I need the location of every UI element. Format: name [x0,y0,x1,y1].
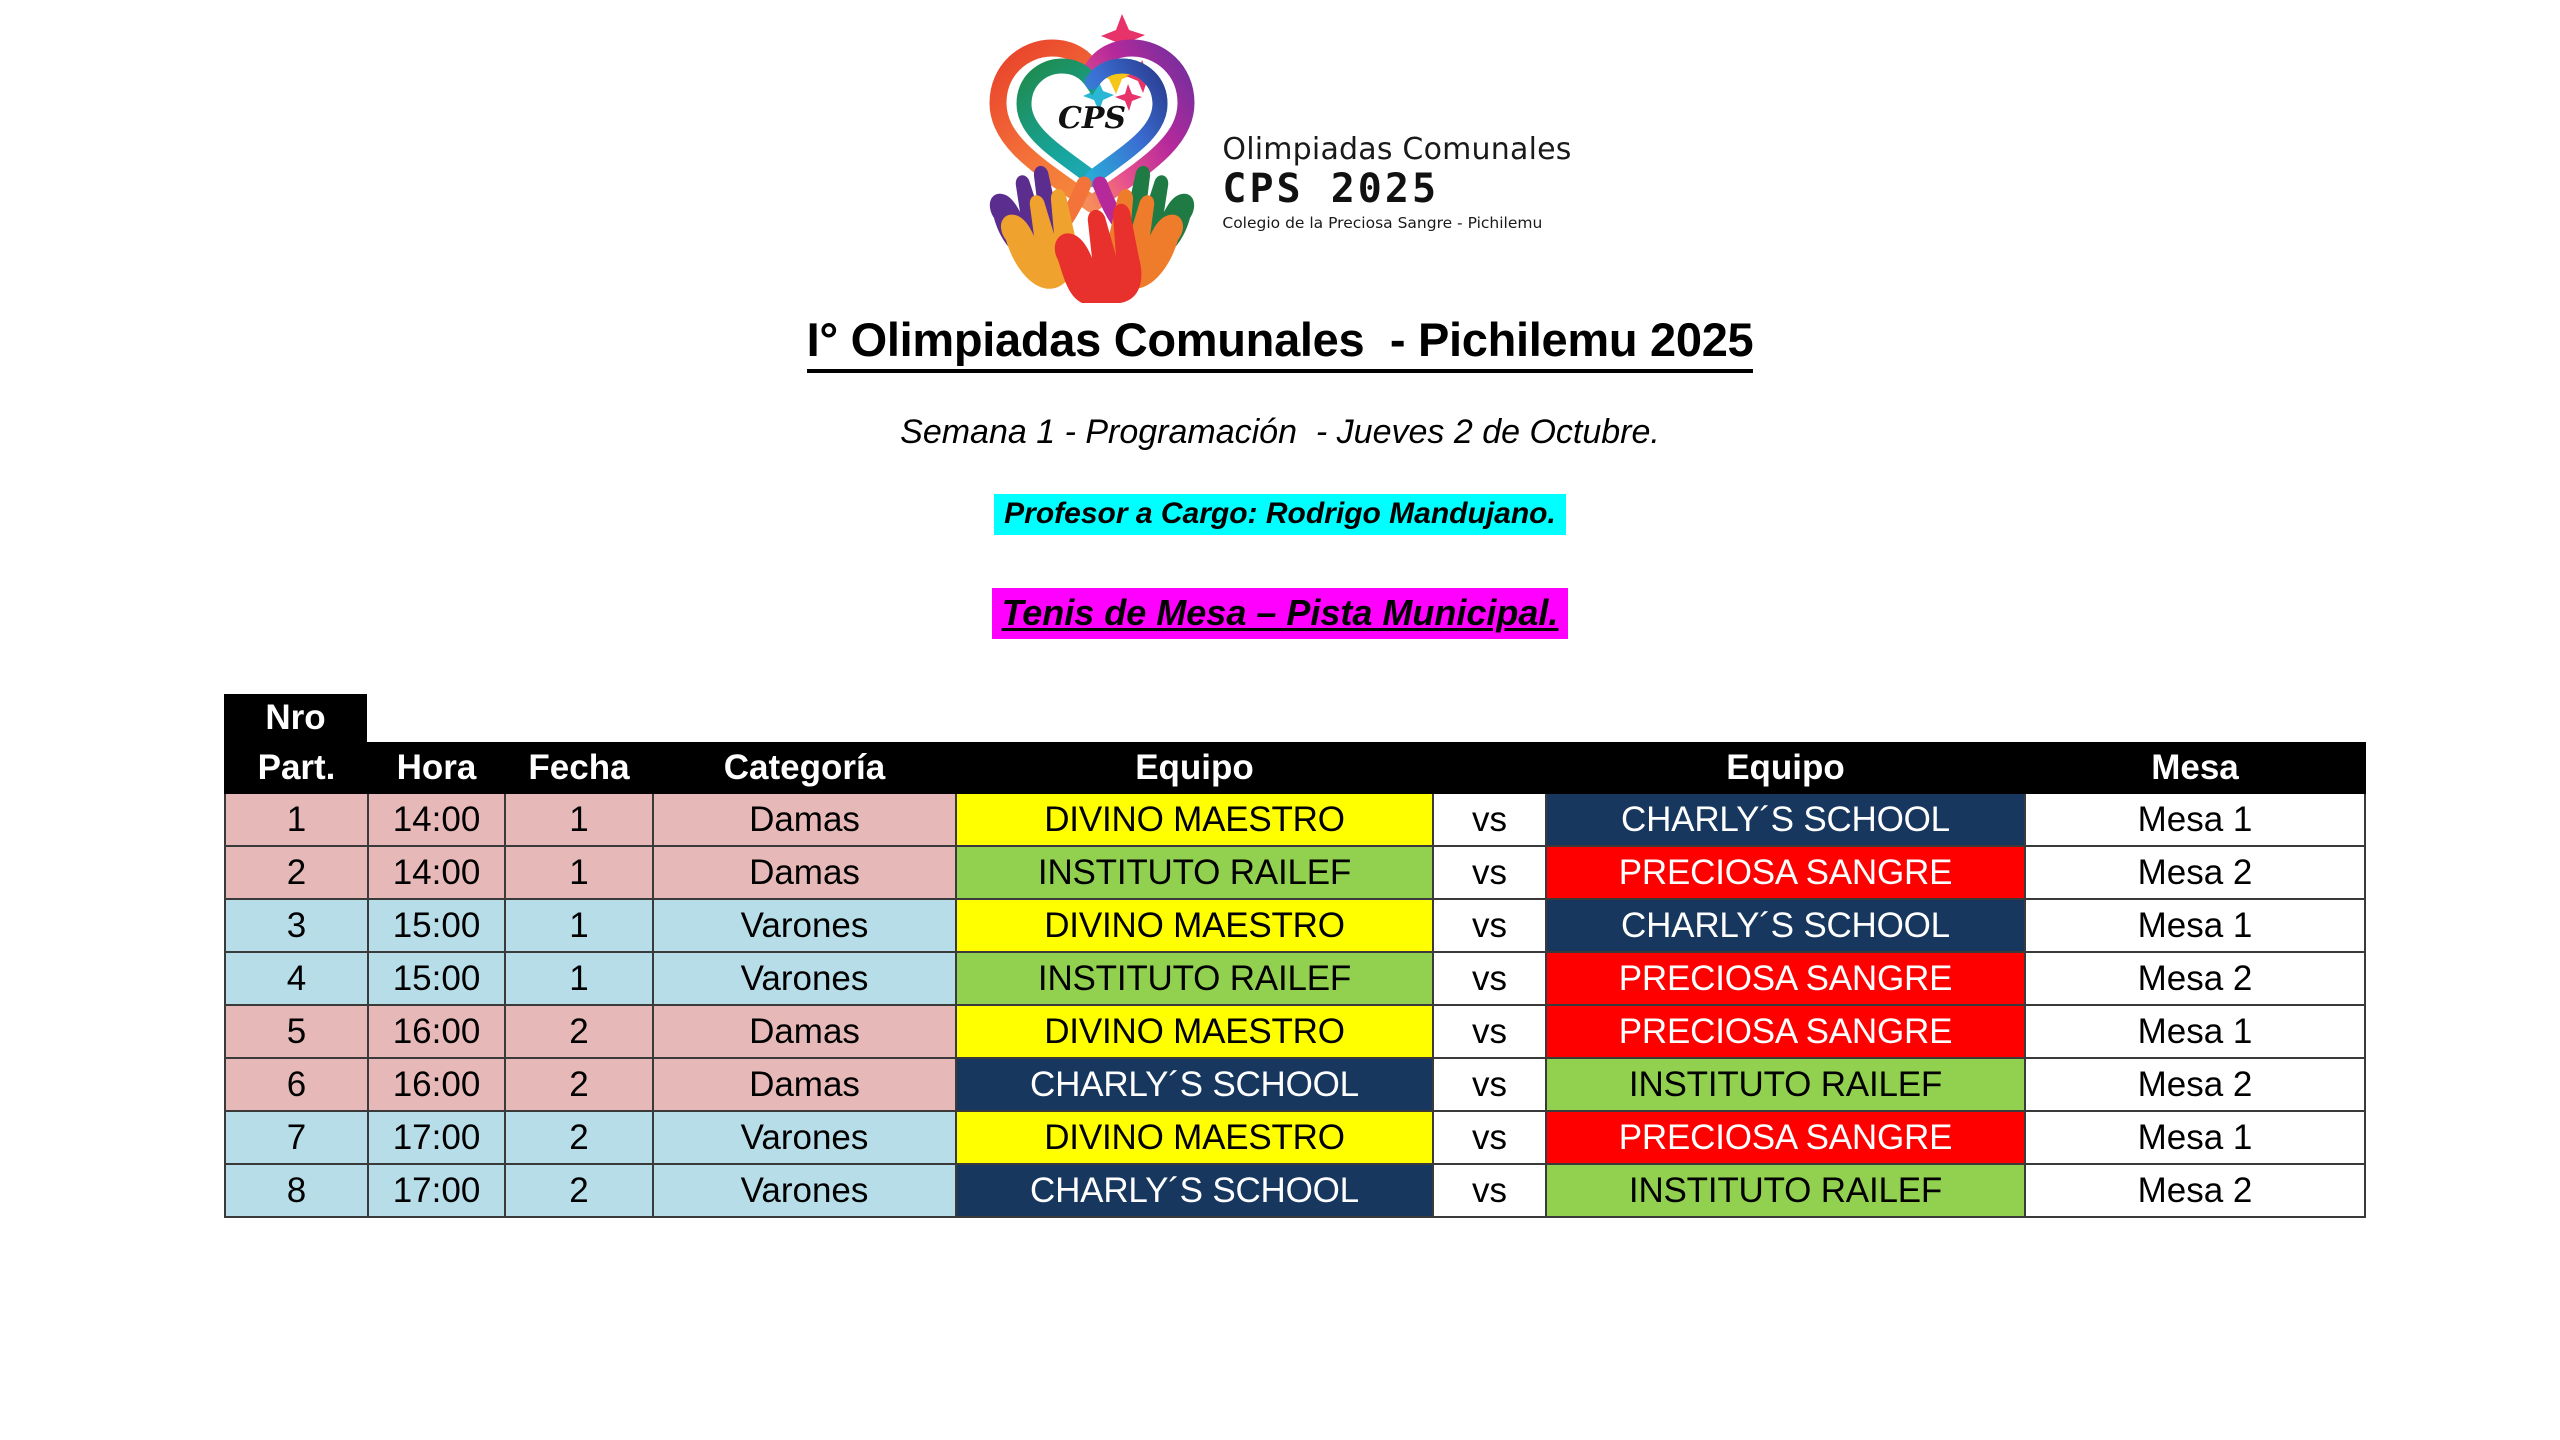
cell-fecha-8: 2 [505,1164,653,1217]
logo-wordmark-line1: Olimpiadas Comunales [1222,134,1571,166]
cell-equipo-2-7: PRECIOSA SANGRE [1546,1111,2025,1164]
cell-fecha-6: 2 [505,1058,653,1111]
cell-hora-3: 15:00 [368,899,505,952]
cell-equipo-2-1: CHARLY´S SCHOOL [1546,793,2025,846]
cell-mesa-4: Mesa 2 [2025,952,2365,1005]
cell-mesa-5: Mesa 1 [2025,1005,2365,1058]
cell-nro-part-6: 6 [225,1058,368,1111]
col-header-equipo-1: Equipo [956,743,1433,793]
cell-equipo-2-4: PRECIOSA SANGRE [1546,952,2025,1005]
cell-mesa-3: Mesa 1 [2025,899,2365,952]
cell-fecha-4: 1 [505,952,653,1005]
cell-nro-part-4: 4 [225,952,368,1005]
cell-vs-4: vs [1433,952,1546,1005]
cell-hora-4: 15:00 [368,952,505,1005]
cell-categoria-5: Damas [653,1005,956,1058]
schedule-table: Part. Hora Fecha Categoría Equipo Equipo… [224,742,2366,1218]
cell-vs-2: vs [1433,846,1546,899]
venue-line: Tenis de Mesa – Pista Municipal. [0,588,2560,639]
venue-highlight: Tenis de Mesa – Pista Municipal. [992,588,1569,639]
cell-equipo-2-2: PRECIOSA SANGRE [1546,846,2025,899]
cell-vs-6: vs [1433,1058,1546,1111]
table-row: 817:002VaronesCHARLY´S SCHOOLvsINSTITUTO… [225,1164,2365,1217]
col-header-fecha: Fecha [505,743,653,793]
cell-categoria-1: Damas [653,793,956,846]
cell-equipo-1-6: CHARLY´S SCHOOL [956,1058,1433,1111]
cell-mesa-1: Mesa 1 [2025,793,2365,846]
cell-categoria-4: Varones [653,952,956,1005]
cell-nro-part-8: 8 [225,1164,368,1217]
cell-hora-8: 17:00 [368,1164,505,1217]
nro-header-tab: Nro [224,694,367,742]
cell-hora-5: 16:00 [368,1005,505,1058]
cell-equipo-2-8: INSTITUTO RAILEF [1546,1164,2025,1217]
cell-vs-7: vs [1433,1111,1546,1164]
cell-equipo-1-1: DIVINO MAESTRO [956,793,1433,846]
cell-nro-part-3: 3 [225,899,368,952]
table-row: 415:001VaronesINSTITUTO RAILEFvsPRECIOSA… [225,952,2365,1005]
cell-equipo-2-5: PRECIOSA SANGRE [1546,1005,2025,1058]
cell-equipo-1-4: INSTITUTO RAILEF [956,952,1433,1005]
col-header-vs [1433,743,1546,793]
cell-equipo-1-7: DIVINO MAESTRO [956,1111,1433,1164]
cell-mesa-8: Mesa 2 [2025,1164,2365,1217]
cell-vs-1: vs [1433,793,1546,846]
cell-categoria-8: Varones [653,1164,956,1217]
subtitle-week-date: Semana 1 - Programación - Jueves 2 de Oc… [0,413,2560,452]
cell-equipo-2-6: INSTITUTO RAILEF [1546,1058,2025,1111]
logo-wordmark-line2: CPS 2025 [1222,167,1571,211]
cell-vs-3: vs [1433,899,1546,952]
cell-equipo-1-5: DIVINO MAESTRO [956,1005,1433,1058]
cell-categoria-3: Varones [653,899,956,952]
table-row: 214:001DamasINSTITUTO RAILEFvsPRECIOSA S… [225,846,2365,899]
cell-vs-8: vs [1433,1164,1546,1217]
cell-categoria-7: Varones [653,1111,956,1164]
table-row: 717:002VaronesDIVINO MAESTROvsPRECIOSA S… [225,1111,2365,1164]
page-title-text: I° Olimpiadas Comunales - Pichilemu 2025 [807,313,1754,373]
cell-fecha-5: 2 [505,1005,653,1058]
cell-vs-5: vs [1433,1005,1546,1058]
cell-mesa-6: Mesa 2 [2025,1058,2365,1111]
schedule-table-body: 114:001DamasDIVINO MAESTROvsCHARLY´S SCH… [225,793,2365,1217]
table-row: 114:001DamasDIVINO MAESTROvsCHARLY´S SCH… [225,793,2365,846]
cell-equipo-1-8: CHARLY´S SCHOOL [956,1164,1433,1217]
cell-fecha-3: 1 [505,899,653,952]
professor-line: Profesor a Cargo: Rodrigo Mandujano. [0,494,2560,535]
col-header-mesa: Mesa [2025,743,2365,793]
cell-fecha-2: 1 [505,846,653,899]
cell-categoria-6: Damas [653,1058,956,1111]
logo-wordmark-line3: Colegio de la Preciosa Sangre - Pichilem… [1222,215,1571,233]
table-header-row: Part. Hora Fecha Categoría Equipo Equipo… [225,743,2365,793]
logo-header: CPS Olimpiadas Comunales CPS 2025 Colegi… [0,8,2560,303]
page-title: I° Olimpiadas Comunales - Pichilemu 2025 [0,312,2560,367]
col-header-hora: Hora [368,743,505,793]
cell-fecha-7: 2 [505,1111,653,1164]
table-row: 315:001VaronesDIVINO MAESTROvsCHARLY´S S… [225,899,2365,952]
cps-heart-hands-logo-icon: CPS [972,8,1212,303]
cell-fecha-1: 1 [505,793,653,846]
col-header-part: Part. [225,743,368,793]
cell-nro-part-7: 7 [225,1111,368,1164]
cell-nro-part-2: 2 [225,846,368,899]
cell-hora-7: 17:00 [368,1111,505,1164]
col-header-equipo-2: Equipo [1546,743,2025,793]
cell-equipo-1-2: INSTITUTO RAILEF [956,846,1433,899]
cps-monogram: CPS [1058,101,1126,136]
cell-nro-part-1: 1 [225,793,368,846]
cell-mesa-7: Mesa 1 [2025,1111,2365,1164]
cell-categoria-2: Damas [653,846,956,899]
col-header-categoria: Categoría [653,743,956,793]
cell-nro-part-5: 5 [225,1005,368,1058]
cell-hora-6: 16:00 [368,1058,505,1111]
table-row: 516:002DamasDIVINO MAESTROvsPRECIOSA SAN… [225,1005,2365,1058]
cell-hora-1: 14:00 [368,793,505,846]
cell-hora-2: 14:00 [368,846,505,899]
professor-highlight: Profesor a Cargo: Rodrigo Mandujano. [994,494,1566,535]
table-row: 616:002DamasCHARLY´S SCHOOLvsINSTITUTO R… [225,1058,2365,1111]
cell-mesa-2: Mesa 2 [2025,846,2365,899]
cell-equipo-2-3: CHARLY´S SCHOOL [1546,899,2025,952]
cell-equipo-1-3: DIVINO MAESTRO [956,899,1433,952]
